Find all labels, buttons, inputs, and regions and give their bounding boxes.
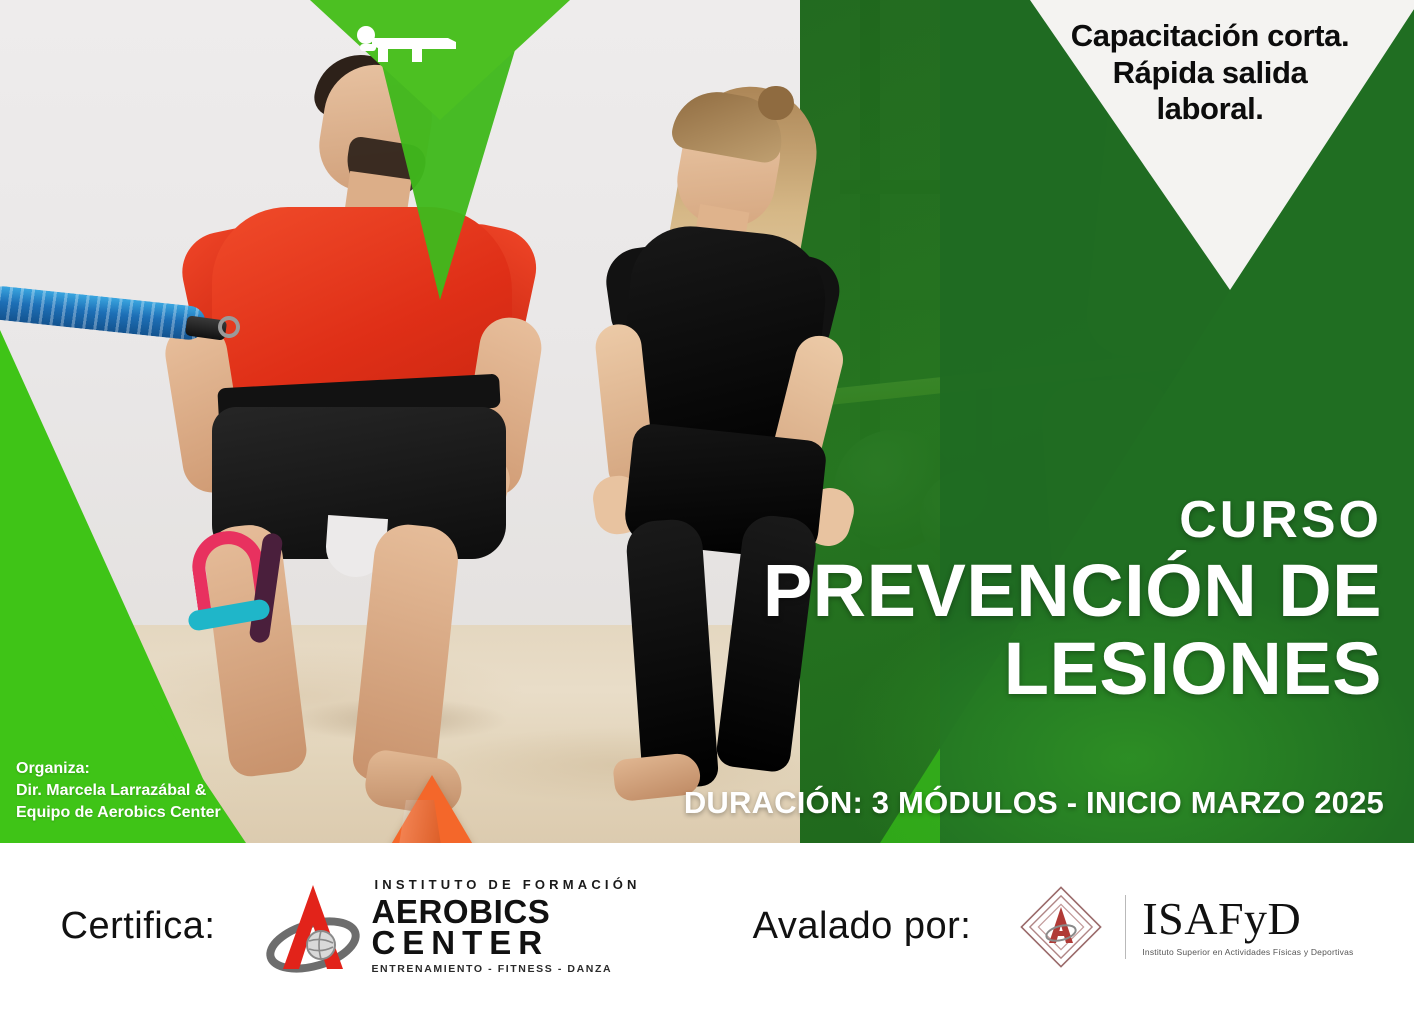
organizer-line-2: Equipo de Aerobics Center: [16, 802, 221, 824]
aerobics-center-logo: INSTITUTO DE FORMACIÓN AEROBICS CENTER E…: [261, 878, 640, 975]
course-title-block: CURSO PREVENCIÓN DE LESIONES: [622, 494, 1382, 709]
isafyd-subtitle: Instituto Superior en Actividades Física…: [1142, 948, 1353, 957]
isafyd-name: ISAFyD: [1142, 896, 1353, 942]
top-headline: Capacitación corta. Rápida salida labora…: [1040, 18, 1380, 128]
isafyd-divider: [1125, 895, 1126, 959]
aerobics-a-globe-mark: [261, 879, 365, 975]
hero-image-area: Capacitación corta. Rápida salida labora…: [0, 0, 1414, 843]
organizer-line-1: Dir. Marcela Larrazábal &: [16, 780, 221, 802]
organizer-label: Organiza:: [16, 758, 221, 780]
isafyd-diamond-a-mark: [1011, 877, 1111, 977]
avalado-label: Avalado por:: [753, 905, 972, 948]
course-title-line-1: PREVENCIÓN DE: [622, 552, 1382, 630]
isafyd-wordmark: ISAFyD Instituto Superior en Actividades…: [1142, 896, 1353, 957]
aerobics-name-line-2: CENTER: [371, 926, 640, 959]
plank-exercise-icon: [352, 22, 470, 68]
footer-bar: Certifica: INSTITUTO DE FORMACIÓN: [0, 843, 1414, 1010]
course-kicker: CURSO: [622, 494, 1382, 546]
top-headline-line-3: laboral.: [1040, 91, 1380, 128]
top-headline-line-1: Capacitación corta.: [1040, 18, 1380, 55]
isafyd-logo: ISAFyD Instituto Superior en Actividades…: [1011, 877, 1353, 977]
course-title-line-2: LESIONES: [622, 630, 1382, 708]
male-athlete-photo: [150, 55, 570, 843]
promotional-flyer: Capacitación corta. Rápida salida labora…: [0, 0, 1414, 1010]
aerobics-tagline: ENTRENAMIENTO - FITNESS - DANZA: [371, 964, 640, 975]
top-headline-line-2: Rápida salida: [1040, 55, 1380, 92]
organizer-credit: Organiza: Dir. Marcela Larrazábal & Equi…: [16, 758, 221, 824]
certifica-group: Certifica: INSTITUTO DE FORMACIÓN: [61, 878, 641, 975]
course-details: DURACIÓN: 3 MÓDULOS - INICIO MARZO 2025: [684, 785, 1384, 821]
certifica-label: Certifica:: [61, 905, 216, 948]
aerobics-center-wordmark: INSTITUTO DE FORMACIÓN AEROBICS CENTER E…: [371, 878, 640, 975]
avalado-group: Avalado por: ISAFyD Instituto Superi: [753, 877, 1354, 977]
aerobics-institute-line: INSTITUTO DE FORMACIÓN: [374, 878, 640, 891]
